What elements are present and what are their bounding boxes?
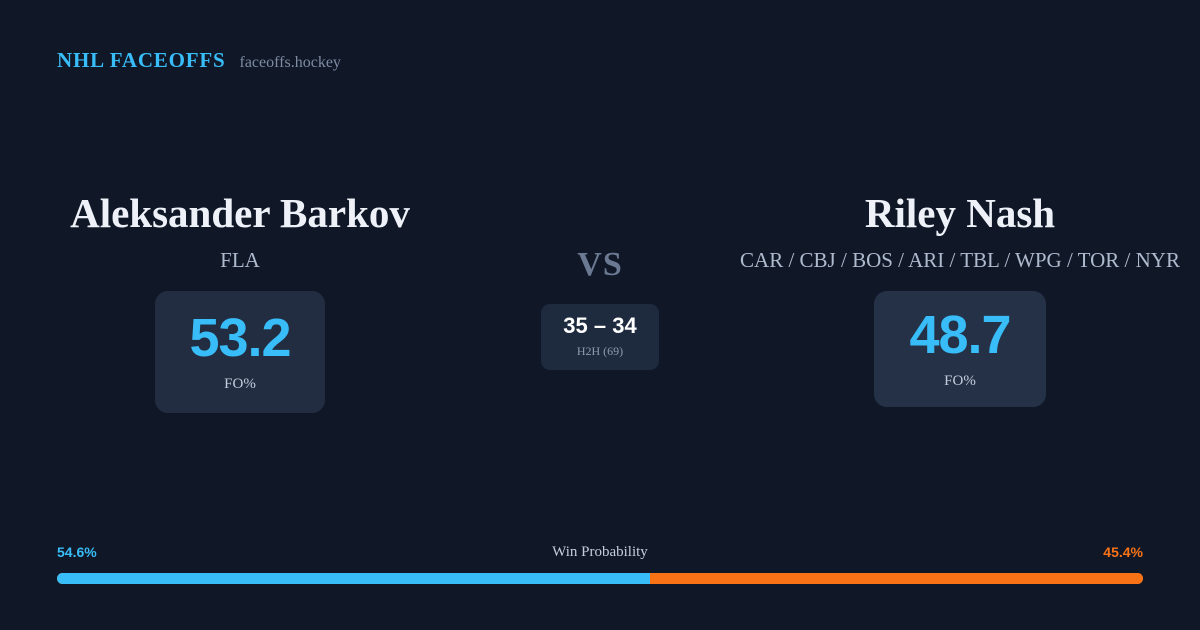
player-left-name: Aleksander Barkov [70, 190, 410, 237]
player-right: Riley Nash CAR / CBJ / BOS / ARI / TBL /… [720, 190, 1200, 407]
win-probability-title: Win Probability [57, 544, 1143, 561]
win-probability-section: 54.6% Win Probability 45.4% [57, 542, 1143, 584]
player-right-faceoff-card: 48.7 FO% [874, 291, 1046, 407]
win-probability-bar [57, 573, 1143, 584]
versus-label: VS [577, 248, 622, 282]
matchup-section: Aleksander Barkov FLA 53.2 FO% VS 35 – 3… [0, 190, 1200, 413]
player-right-name: Riley Nash [865, 190, 1055, 237]
site-header: NHL FACEOFFS faceoffs.hockey [57, 48, 341, 73]
player-left-faceoff-value: 53.2 [189, 311, 290, 365]
player-left-faceoff-card: 53.2 FO% [155, 291, 325, 413]
win-probability-labels: 54.6% Win Probability 45.4% [57, 542, 1143, 562]
brand-title: NHL FACEOFFS [57, 48, 225, 73]
player-left: Aleksander Barkov FLA 53.2 FO% [0, 190, 480, 413]
head-to-head-total-label: H2H (69) [577, 344, 623, 359]
versus-section: VS 35 – 34 H2H (69) [480, 190, 720, 370]
site-domain-label: faceoffs.hockey [239, 54, 340, 72]
player-right-faceoff-label: FO% [944, 373, 976, 390]
player-left-teams: FLA [220, 248, 260, 273]
head-to-head-score: 35 – 34 [563, 315, 636, 337]
player-left-faceoff-label: FO% [224, 376, 256, 393]
win-probability-bar-right-segment [650, 573, 1143, 584]
player-right-teams: CAR / CBJ / BOS / ARI / TBL / WPG / TOR … [740, 248, 1180, 273]
head-to-head-card: 35 – 34 H2H (69) [541, 304, 659, 370]
player-right-faceoff-value: 48.7 [909, 308, 1010, 362]
win-probability-bar-left-segment [57, 573, 650, 584]
